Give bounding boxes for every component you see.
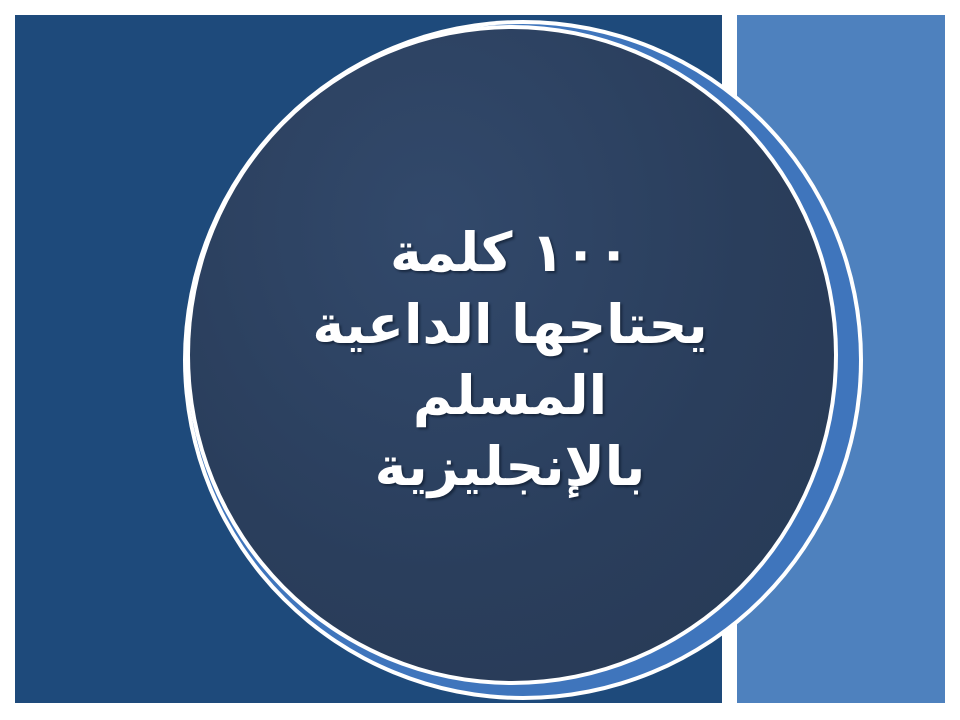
slide-title: ١٠٠ كلمة يحتاجها الداعية المسلم بالإنجلي… (210, 150, 810, 570)
title-line-2: يحتاجها الداعية (312, 289, 707, 360)
title-line-3: المسلم (413, 360, 607, 431)
title-line-4: بالإنجليزية (375, 431, 646, 502)
title-line-1: ١٠٠ كلمة (390, 217, 630, 288)
presentation-slide: ١٠٠ كلمة يحتاجها الداعية المسلم بالإنجلي… (0, 0, 960, 720)
